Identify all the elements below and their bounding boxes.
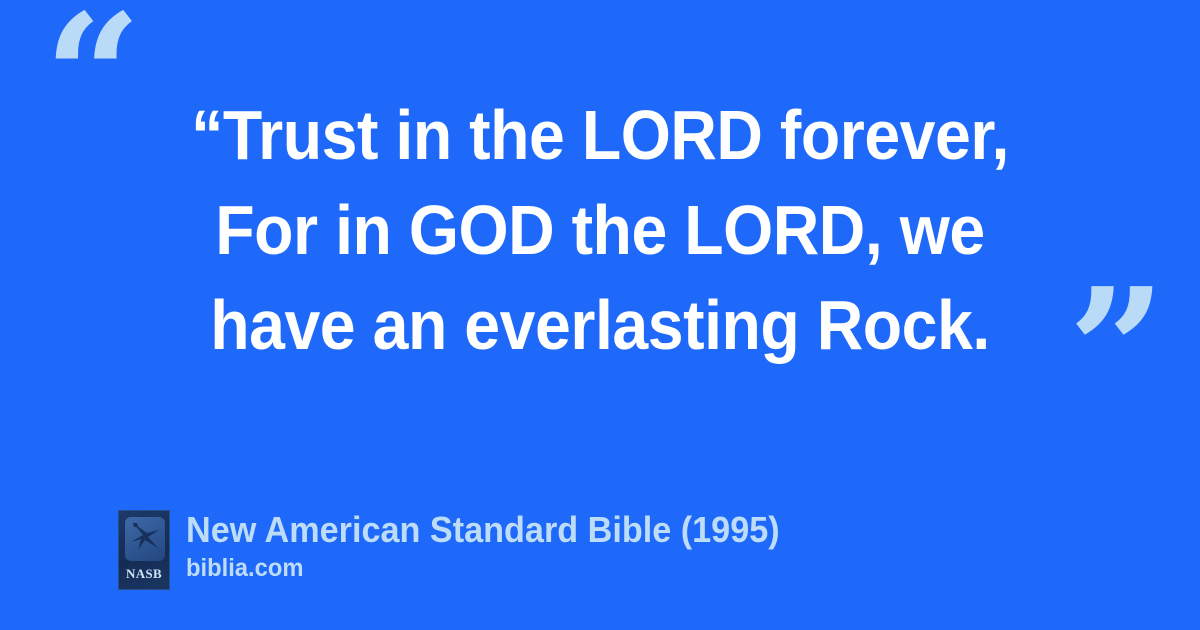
- quote-card: “ “Trust in the LORD forever, For in GOD…: [0, 0, 1200, 630]
- quote-line-3: have an everlasting Rock.: [48, 278, 1152, 373]
- quote-line-1: “Trust in the LORD forever,: [48, 88, 1152, 183]
- translation-title: New American Standard Bible (1995): [186, 508, 780, 552]
- attribution-footer: NASB New American Standard Bible (1995) …: [118, 508, 811, 590]
- site-url[interactable]: biblia.com: [186, 552, 780, 584]
- decorative-close-quote-icon: ”: [1068, 266, 1166, 436]
- nasb-logo: NASB: [118, 510, 170, 590]
- quote-text-block: “Trust in the LORD forever, For in GOD t…: [0, 88, 1200, 373]
- quote-line-2: For in GOD the LORD, we: [48, 183, 1152, 278]
- nasb-logo-wordmark: NASB: [119, 566, 169, 582]
- attribution-text: New American Standard Bible (1995) bibli…: [186, 508, 811, 584]
- nasb-emblem-icon: [125, 517, 165, 561]
